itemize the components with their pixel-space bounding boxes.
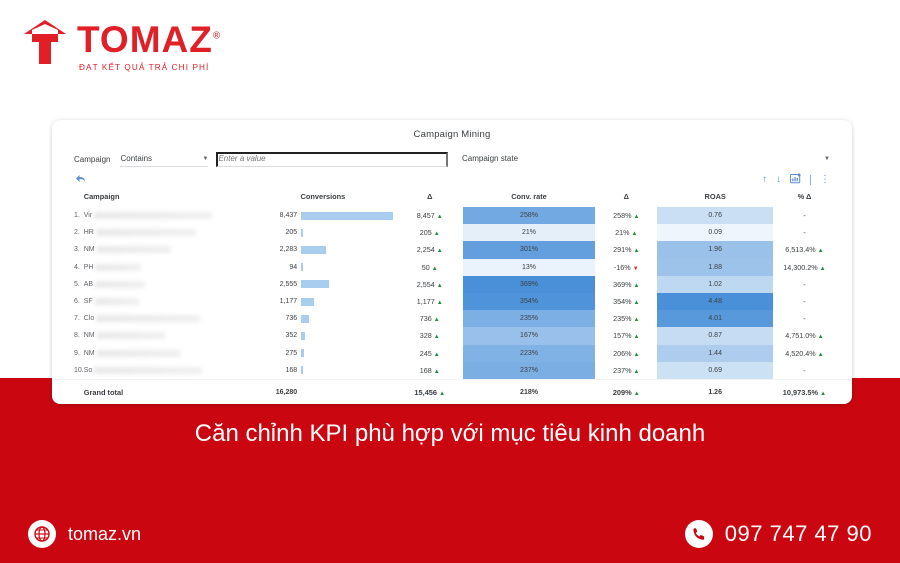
table-row[interactable]: 9. NM 275 245 ▲ 223% 206% ▲ 1.44 4,520.4… (52, 345, 852, 362)
header-conv-rate[interactable]: Conv. rate (463, 189, 595, 207)
redacted-name (96, 229, 196, 236)
header-roas[interactable]: ROAS (657, 189, 772, 207)
campaign-name-cell[interactable]: PH (84, 259, 249, 276)
filter-value-input[interactable] (216, 152, 448, 167)
campaign-name-cell[interactable]: NM (84, 345, 249, 362)
arrow-down-icon[interactable]: ↓ (776, 175, 781, 185)
brand-tagline: ĐẠT KẾT QUẢ TRẢ CHI PHÍ (79, 63, 221, 72)
conversions-delta-cell: 205 ▲ (397, 224, 463, 241)
campaign-table: Campaign Conversions Δ Conv. rate Δ ROAS… (52, 189, 852, 401)
conv-rate-value: 237% (463, 362, 595, 379)
filter-operator-select[interactable]: Contains ▼ (120, 154, 208, 167)
pct-delta-cell: - (773, 224, 852, 241)
roas-cell: 4.01 (657, 310, 772, 327)
campaign-state-select[interactable]: Campaign state ▼ (462, 154, 830, 167)
pct-delta-cell: - (773, 362, 852, 380)
pct-delta-cell: 14,300.2% ▲ (773, 259, 852, 276)
campaign-name-cell[interactable]: NM (84, 327, 249, 344)
row-index: 6. (52, 293, 84, 310)
conversions-delta-cell: 736 ▲ (397, 310, 463, 327)
conv-rate-value: 301% (463, 241, 595, 258)
conversions-delta-cell: 2,254 ▲ (397, 241, 463, 258)
table-row[interactable]: 2. HR 205 205 ▲ 21% 21% ▲ 0.09 - (52, 224, 852, 241)
row-index: 10. (52, 362, 84, 380)
conversions-delta-cell: 245 ▲ (397, 345, 463, 362)
conv-rate-cell: 354% (463, 293, 595, 310)
conversions-bar (301, 366, 303, 374)
redacted-name (97, 246, 171, 253)
total-conversions-delta: 15,456 ▲ (397, 379, 463, 401)
total-index (52, 379, 84, 401)
chevron-down-icon: ▼ (824, 156, 830, 162)
conversions-cell: 352 (249, 327, 396, 344)
roas-cell: 0.09 (657, 224, 772, 241)
conv-rate-delta-cell: 237% ▲ (595, 362, 657, 380)
conversions-bar (301, 332, 305, 340)
roas-cell: 0.76 (657, 207, 772, 224)
phone-number[interactable]: 097 747 47 90 (725, 521, 872, 547)
roas-cell: 0.87 (657, 327, 772, 344)
campaign-name-cell[interactable]: SF (84, 293, 249, 310)
redacted-name (96, 315, 200, 322)
conversions-bar (301, 263, 303, 271)
table-row[interactable]: 10. So 168 168 ▲ 237% 237% ▲ 0.69 - (52, 362, 852, 380)
conversions-bar (301, 349, 304, 357)
conversions-value: 275 (249, 350, 297, 357)
table-row[interactable]: 3. NM 2,283 2,254 ▲ 301% 291% ▲ 1.96 6,5… (52, 241, 852, 258)
redacted-name (94, 212, 212, 219)
total-conv-rate: 218% (463, 379, 595, 401)
conversions-value: 1,177 (249, 298, 297, 305)
redacted-name (97, 332, 165, 339)
campaign-name-prefix: NM (84, 350, 95, 357)
roas-cell: 1.44 (657, 345, 772, 362)
conversions-value: 2,283 (249, 246, 297, 253)
globe-icon (28, 520, 56, 548)
conversions-value: 352 (249, 332, 297, 339)
row-index: 9. (52, 345, 84, 362)
phone-icon (685, 520, 713, 548)
conv-rate-value: 223% (463, 345, 595, 362)
footer-bar: tomaz.vn 097 747 47 90 (0, 505, 900, 563)
roas-value: 0.69 (657, 362, 772, 379)
conversions-delta-cell: 2,554 ▲ (397, 276, 463, 293)
header-campaign[interactable]: Campaign (84, 189, 249, 207)
redacted-name (97, 350, 181, 357)
conversions-bar (301, 280, 329, 288)
conversions-delta-cell: 8,457 ▲ (397, 207, 463, 224)
redacted-name (94, 367, 202, 374)
conv-rate-value: 258% (463, 207, 595, 224)
campaign-name-prefix: Vir (84, 212, 92, 219)
conv-rate-delta-cell: 21% ▲ (595, 224, 657, 241)
conversions-value: 736 (249, 315, 297, 322)
campaign-mining-card: Campaign Mining Campaign Contains ▼ Camp… (52, 120, 852, 404)
toolbar-actions: ↑ ↓ ⋮ (762, 173, 830, 187)
table-row[interactable]: 6. SF 1,177 1,177 ▲ 354% 354% ▲ 4.48 - (52, 293, 852, 310)
redacted-name (95, 298, 139, 305)
conversions-delta-cell: 328 ▲ (397, 327, 463, 344)
toolbar-divider (810, 175, 811, 185)
header-conversions[interactable]: Conversions (249, 189, 396, 207)
pct-delta-cell: - (773, 310, 852, 327)
conv-rate-delta-cell: 291% ▲ (595, 241, 657, 258)
conv-rate-delta-cell: 157% ▲ (595, 327, 657, 344)
pct-delta-cell: 4,751.0% ▲ (773, 327, 852, 344)
conv-rate-cell: 21% (463, 224, 595, 241)
table-row[interactable]: 1. Vir 8,437 8,457 ▲ 258% 258% ▲ 0.76 - (52, 207, 852, 224)
roas-cell: 0.69 (657, 362, 772, 380)
conversions-cell: 168 (249, 362, 396, 380)
conv-rate-delta-cell: 354% ▲ (595, 293, 657, 310)
campaign-name-prefix: PH (84, 264, 94, 271)
conversions-cell: 8,437 (249, 207, 396, 224)
conv-rate-value: 354% (463, 293, 595, 310)
campaign-name-cell[interactable]: So (84, 362, 249, 380)
header-conv-rate-delta[interactable]: Δ (595, 189, 657, 207)
conv-rate-delta-cell: 369% ▲ (595, 276, 657, 293)
redacted-name (95, 281, 145, 288)
campaign-name-prefix: NM (84, 332, 95, 339)
table-body: 1. Vir 8,437 8,457 ▲ 258% 258% ▲ 0.76 - … (52, 207, 852, 401)
campaign-name-cell[interactable]: HR (84, 224, 249, 241)
row-index: 4. (52, 259, 84, 276)
conversions-delta-cell: 50 ▲ (397, 259, 463, 276)
campaign-name-cell[interactable]: NM (84, 241, 249, 258)
conversions-value: 2,555 (249, 281, 297, 288)
conv-rate-delta-cell: 206% ▲ (595, 345, 657, 362)
roas-cell: 4.48 (657, 293, 772, 310)
conversions-value: 168 (249, 367, 297, 374)
brand-name-text: TOMAZ (77, 19, 213, 60)
conv-rate-value: 235% (463, 310, 595, 327)
total-conv-rate-delta: 209% ▲ (595, 379, 657, 401)
conv-rate-value: 369% (463, 276, 595, 293)
more-vertical-icon[interactable]: ⋮ (820, 175, 830, 185)
campaign-name-prefix: Clo (84, 315, 95, 322)
conv-rate-cell: 258% (463, 207, 595, 224)
conv-rate-value: 13% (463, 259, 595, 276)
campaign-name-prefix: HR (84, 229, 94, 236)
arrow-up-icon[interactable]: ↑ (762, 175, 767, 185)
conv-rate-delta-cell: 235% ▲ (595, 310, 657, 327)
roas-value: 1.96 (657, 241, 772, 258)
table-row[interactable]: 5. AB 2,555 2,554 ▲ 369% 369% ▲ 1.02 - (52, 276, 852, 293)
roas-value: 0.76 (657, 207, 772, 224)
redacted-name (95, 264, 141, 271)
conv-rate-cell: 13% (463, 259, 595, 276)
conversions-bar (301, 298, 314, 306)
conversions-value: 94 (249, 264, 297, 271)
brand-name: TOMAZ® (77, 21, 221, 58)
chevron-down-icon: ▼ (203, 156, 209, 162)
roas-value: 1.02 (657, 276, 772, 293)
brand-logo: TOMAZ® ĐẠT KẾT QUẢ TRẢ CHI PHÍ (22, 18, 221, 72)
campaign-name-prefix: So (84, 367, 93, 374)
chart-export-icon[interactable] (790, 173, 801, 187)
conv-rate-cell: 237% (463, 362, 595, 380)
conversions-cell: 736 (249, 310, 396, 327)
conversions-cell: 205 (249, 224, 396, 241)
tomaz-mark-icon (22, 18, 68, 66)
total-pct-delta: 10,973.5% ▲ (773, 379, 852, 401)
table-row[interactable]: 8. NM 352 328 ▲ 167% 157% ▲ 0.87 4,751.0… (52, 327, 852, 344)
website-group[interactable]: tomaz.vn (28, 520, 141, 548)
conversions-value: 205 (249, 229, 297, 236)
campaign-name-cell[interactable]: Vir (84, 207, 249, 224)
conversions-cell: 2,283 (249, 241, 396, 258)
conv-rate-cell: 235% (463, 310, 595, 327)
row-index: 2. (52, 224, 84, 241)
roas-value: 0.09 (657, 224, 772, 241)
conversions-cell: 275 (249, 345, 396, 362)
caption-text: Căn chỉnh KPI phù hợp với mục tiêu kinh … (0, 420, 900, 448)
filter-field-label: Campaign (74, 155, 110, 167)
conversions-bar (301, 246, 326, 254)
pct-delta-cell: 4,520.4% ▲ (773, 345, 852, 362)
conversions-cell: 94 (249, 259, 396, 276)
campaign-name-cell[interactable]: AB (84, 276, 249, 293)
page-title: Campaign Mining (52, 120, 852, 140)
header-conversions-delta[interactable]: Δ (397, 189, 463, 207)
pct-delta-cell: - (773, 207, 852, 224)
roas-value: 1.88 (657, 259, 772, 276)
conv-rate-value: 21% (463, 224, 595, 241)
row-index: 8. (52, 327, 84, 344)
row-index: 3. (52, 241, 84, 258)
roas-cell: 1.96 (657, 241, 772, 258)
roas-value: 0.87 (657, 327, 772, 344)
phone-group[interactable]: 097 747 47 90 (685, 520, 872, 548)
roas-value: 4.01 (657, 310, 772, 327)
conv-rate-delta-cell: 258% ▲ (595, 207, 657, 224)
conversions-delta-cell: 168 ▲ (397, 362, 463, 380)
row-index: 1. (52, 207, 84, 224)
filter-bar: Campaign Contains ▼ Campaign state ▼ (52, 140, 852, 167)
conv-rate-value: 167% (463, 327, 595, 344)
conversions-bar (301, 315, 309, 323)
conv-rate-cell: 301% (463, 241, 595, 258)
total-conversions: 16,280 (249, 379, 396, 401)
conversions-delta-cell: 1,177 ▲ (397, 293, 463, 310)
campaign-name-prefix: NM (84, 246, 95, 253)
total-roas: 1.26 (657, 379, 772, 401)
website-url[interactable]: tomaz.vn (68, 524, 141, 545)
conv-rate-cell: 167% (463, 327, 595, 344)
undo-icon[interactable] (74, 173, 87, 187)
toolbar: ↑ ↓ ⋮ (52, 167, 852, 187)
table-header-row: Campaign Conversions Δ Conv. rate Δ ROAS… (52, 189, 852, 207)
roas-value: 4.48 (657, 293, 772, 310)
row-index: 7. (52, 310, 84, 327)
roas-cell: 1.02 (657, 276, 772, 293)
grand-total-row: Grand total 16,280 15,456 ▲ 218% 209% ▲ … (52, 379, 852, 401)
campaign-name-prefix: AB (84, 281, 93, 288)
conversions-value: 8,437 (249, 212, 297, 219)
row-index: 5. (52, 276, 84, 293)
pct-delta-cell: 6,513.4% ▲ (773, 241, 852, 258)
conv-rate-cell: 369% (463, 276, 595, 293)
roas-value: 1.44 (657, 345, 772, 362)
campaign-name-prefix: SF (84, 298, 93, 305)
conversions-cell: 2,555 (249, 276, 396, 293)
conversions-bar (301, 212, 393, 220)
pct-delta-cell: - (773, 293, 852, 310)
registered-mark: ® (213, 31, 221, 42)
total-label: Grand total (84, 379, 249, 401)
header-pct-delta[interactable]: % Δ (773, 189, 852, 207)
conversions-cell: 1,177 (249, 293, 396, 310)
filter-operator-value: Contains (120, 154, 152, 163)
header-index (52, 189, 84, 207)
pct-delta-cell: - (773, 276, 852, 293)
table-row[interactable]: 4. PH 94 50 ▲ 13% -16% ▼ 1.88 14,300.2% … (52, 259, 852, 276)
conversions-bar (301, 229, 303, 237)
conv-rate-cell: 223% (463, 345, 595, 362)
campaign-name-cell[interactable]: Clo (84, 310, 249, 327)
campaign-state-label: Campaign state (462, 154, 518, 163)
table-row[interactable]: 7. Clo 736 736 ▲ 235% 235% ▲ 4.01 - (52, 310, 852, 327)
conv-rate-delta-cell: -16% ▼ (595, 259, 657, 276)
roas-cell: 1.88 (657, 259, 772, 276)
